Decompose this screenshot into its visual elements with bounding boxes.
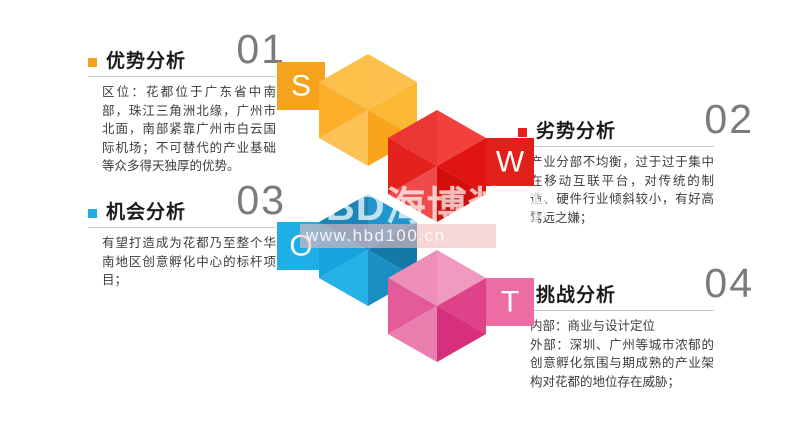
strength-header: 优势分析 01 — [88, 52, 276, 72]
cube-t: T — [388, 250, 534, 362]
weakness-title: 劣势分析 — [536, 122, 616, 142]
block-strength: 优势分析 01 区位：花都位于广东省中南部，珠江三角洲北缘，广州市北面，南部紧靠… — [88, 52, 276, 176]
strength-body-text: 区位：花都位于广东省中南部，珠江三角洲北缘，广州市北面，南部紧靠广州市白云国际机… — [102, 83, 276, 176]
opportunity-header: 机会分析 03 — [88, 203, 276, 223]
opportunity-body: 有望打造成为花都乃至整个华南地区创意孵化中心的标杆项目； — [88, 234, 276, 290]
opportunity-bullet-icon — [88, 209, 97, 218]
opportunity-body-text: 有望打造成为花都乃至整个华南地区创意孵化中心的标杆项目； — [102, 234, 276, 290]
swot-cube-graphic: S W — [258, 24, 548, 424]
weakness-body-text: 产业分部不均衡，过于过于集中在移动互联平台，对传统的制造、硬件行业倾斜较小，有好… — [530, 153, 714, 227]
cube-o-letter: O — [289, 230, 312, 263]
strength-title: 优势分析 — [106, 52, 186, 72]
strength-divider — [88, 76, 276, 77]
weakness-number: 02 — [704, 99, 754, 140]
cube-s-letter: S — [291, 70, 311, 103]
threat-number: 04 — [704, 263, 754, 304]
threat-body-line2: 外部：深圳、广州等城市浓郁的创意孵化氛围与期成熟的产业架构对花都的地位存在威胁； — [530, 336, 714, 392]
cube-w: W — [388, 110, 534, 222]
threat-title: 挑战分析 — [536, 286, 616, 306]
block-opportunity: 机会分析 03 有望打造成为花都乃至整个华南地区创意孵化中心的标杆项目； — [88, 203, 276, 290]
strength-body: 区位：花都位于广东省中南部，珠江三角洲北缘，广州市北面，南部紧靠广州市白云国际机… — [88, 83, 276, 176]
cube-t-letter: T — [501, 286, 519, 319]
opportunity-title: 机会分析 — [106, 203, 186, 223]
slide-canvas: 优势分析 01 区位：花都位于广东省中南部，珠江三角洲北缘，广州市北面，南部紧靠… — [0, 0, 800, 444]
threat-body-line1: 内部：商业与设计定位 — [530, 317, 714, 336]
cube-w-letter: W — [496, 146, 525, 179]
strength-bullet-icon — [88, 58, 97, 67]
opportunity-divider — [88, 227, 276, 228]
